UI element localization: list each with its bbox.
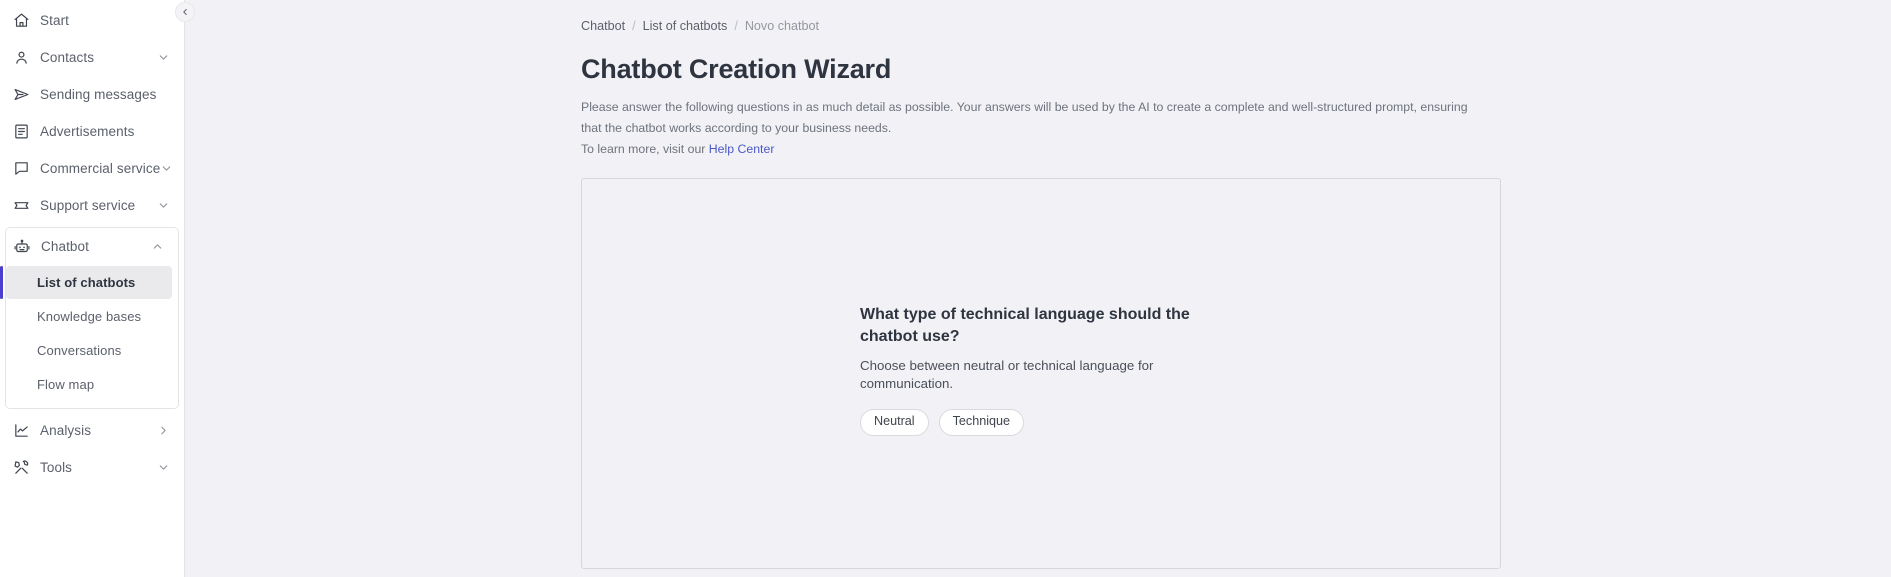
chat-bubble-icon [11,159,31,179]
wizard-card: What type of technical language should t… [581,178,1501,569]
document-icon [11,122,31,142]
sidebar-subitem-label: List of chatbots [37,275,135,290]
wizard-question-title: What type of technical language should t… [860,304,1250,346]
breadcrumb: Chatbot / List of chatbots / Novo chatbo… [581,18,1801,34]
sidebar-item-label: Support service [40,199,156,213]
sidebar-item-commercial-service[interactable]: Commercial service [0,150,184,187]
breadcrumb-item-chatbot[interactable]: Chatbot [581,19,625,33]
sidebar-item-label: Analysis [40,424,156,438]
sidebar-subitem-flow-map[interactable]: Flow map [6,368,172,401]
page-title: Chatbot Creation Wizard [581,54,1801,85]
home-icon [11,11,31,31]
wizard-question-subtitle: Choose between neutral or technical lang… [860,357,1250,394]
sidebar-collapse-button[interactable] [175,2,195,22]
sidebar-item-chatbot[interactable]: Chatbot [6,228,178,265]
chevron-down-icon[interactable] [160,162,173,176]
sidebar: Start Contacts Sending messages Advertis… [0,0,185,577]
help-center-link[interactable]: Help Center [709,142,775,156]
ticket-icon [11,196,31,216]
intro-help-prefix: To learn more, visit our [581,142,709,156]
sidebar-subitem-label: Knowledge bases [37,309,141,324]
sidebar-group-chatbot: Chatbot List of chatbots Knowledge bases… [5,227,179,409]
option-chip-technique[interactable]: Technique [939,409,1024,436]
sidebar-item-support-service[interactable]: Support service [0,187,184,224]
intro-paragraph: Please answer the following questions in… [581,100,1468,135]
sidebar-subitem-label: Flow map [37,377,94,392]
chevron-right-icon[interactable] [156,424,170,438]
sidebar-item-label: Sending messages [40,88,170,102]
robot-icon [12,237,32,257]
tools-icon [11,458,31,478]
sidebar-item-label: Advertisements [40,125,170,139]
chevron-down-icon[interactable] [156,199,170,213]
sidebar-subitem-conversations[interactable]: Conversations [6,334,172,367]
chevron-down-icon[interactable] [156,461,170,475]
sidebar-item-analysis[interactable]: Analysis [0,412,184,449]
option-chip-neutral[interactable]: Neutral [860,409,929,436]
chevron-up-icon[interactable] [150,240,164,254]
sidebar-item-label: Contacts [40,51,156,65]
sidebar-item-label: Start [40,14,170,28]
sidebar-item-label: Tools [40,461,156,475]
sidebar-item-sending-messages[interactable]: Sending messages [0,76,184,113]
sidebar-item-contacts[interactable]: Contacts [0,39,184,76]
sidebar-subitem-list-of-chatbots[interactable]: List of chatbots [6,266,172,299]
chevron-left-icon [180,7,190,17]
user-icon [11,48,31,68]
wizard-options: Neutral Technique [860,409,1250,436]
breadcrumb-separator: / [632,19,636,33]
breadcrumb-item-list-of-chatbots[interactable]: List of chatbots [643,19,728,33]
main-content: Chatbot / List of chatbots / Novo chatbo… [185,0,1891,577]
wizard-question-block: What type of technical language should t… [860,304,1250,435]
breadcrumb-item-novo-chatbot: Novo chatbot [745,19,819,33]
intro-text: Please answer the following questions in… [581,97,1471,160]
app-root: Start Contacts Sending messages Advertis… [0,0,1891,577]
chevron-down-icon[interactable] [156,51,170,65]
intro-help-line: To learn more, visit our Help Center [581,139,1471,160]
chart-line-icon [11,421,31,441]
sidebar-item-label: Chatbot [41,240,150,254]
send-icon [11,85,31,105]
sidebar-item-advertisements[interactable]: Advertisements [0,113,184,150]
sidebar-subitem-knowledge-bases[interactable]: Knowledge bases [6,300,172,333]
breadcrumb-separator: / [734,19,738,33]
sidebar-item-label: Commercial service [40,162,160,176]
sidebar-subitem-label: Conversations [37,343,121,358]
sidebar-item-tools[interactable]: Tools [0,449,184,486]
sidebar-item-start[interactable]: Start [0,2,184,39]
